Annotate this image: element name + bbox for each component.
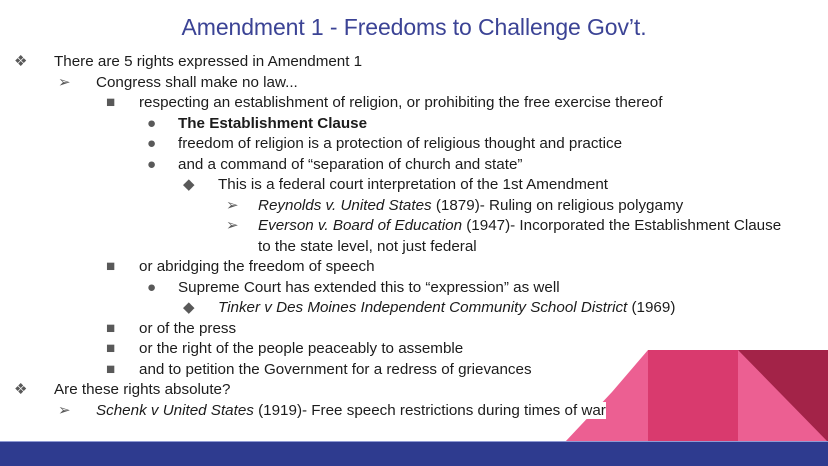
outline-item: ● freedom of religion is a protection of… xyxy=(0,134,828,155)
outline-text-rest: (1919)- Free speech restrictions during … xyxy=(254,402,606,419)
outline-text: Reynolds v. United States (1879)- Ruling… xyxy=(258,196,791,217)
outline-item: ➢ Reynolds v. United States (1879)- Ruli… xyxy=(0,196,828,217)
bullet-dot-icon: ● xyxy=(147,114,156,135)
bullet-big-diamond-icon: ◆ xyxy=(183,298,195,319)
bottom-accent-bar xyxy=(0,442,828,466)
outline-text: or of the press xyxy=(139,319,759,340)
outline-text: Are these rights absolute? xyxy=(54,380,714,401)
outline-item: ❖ Are these rights absolute? xyxy=(0,380,828,401)
outline-item: ◆ Tinker v Des Moines Independent Commun… xyxy=(0,298,828,319)
bullet-square-icon: ■ xyxy=(106,93,115,114)
outline-text: The Establishment Clause xyxy=(178,114,798,135)
bullet-square-icon: ■ xyxy=(106,360,115,381)
outline-text: Supreme Court has extended this to “expr… xyxy=(178,278,798,299)
bullet-arrow-icon: ➢ xyxy=(226,216,239,237)
slide-title: Amendment 1 - Freedoms to Challenge Gov’… xyxy=(0,14,828,41)
slide-body-outline: ❖ There are 5 rights expressed in Amendm… xyxy=(0,52,828,421)
case-citation: Schenk v United States xyxy=(96,402,254,419)
outline-text: respecting an establishment of religion,… xyxy=(139,93,759,114)
outline-text: and a command of “separation of church a… xyxy=(178,155,798,176)
outline-text: and to petition the Government for a red… xyxy=(139,360,759,381)
outline-item: ● Supreme Court has extended this to “ex… xyxy=(0,278,828,299)
outline-item: ■ or the right of the people peaceably t… xyxy=(0,339,828,360)
case-citation: Tinker v Des Moines Independent Communit… xyxy=(218,299,627,316)
outline-text-rest: (1969) xyxy=(627,299,675,316)
bullet-diamond4-icon: ❖ xyxy=(14,52,28,73)
slide-canvas: Amendment 1 - Freedoms to Challenge Gov’… xyxy=(0,0,828,466)
bullet-dot-icon: ● xyxy=(147,134,156,155)
bullet-dot-icon: ● xyxy=(147,278,156,299)
outline-item: ■ or of the press xyxy=(0,319,828,340)
bullet-square-icon: ■ xyxy=(106,319,115,340)
outline-item: ■ or abridging the freedom of speech xyxy=(0,257,828,278)
outline-text: Everson v. Board of Education (1947)- In… xyxy=(258,216,791,257)
outline-text-rest: (1879)- Ruling on religious polygamy xyxy=(432,197,684,214)
outline-item: ■ respecting an establishment of religio… xyxy=(0,93,828,114)
outline-text: There are 5 rights expressed in Amendmen… xyxy=(54,52,714,73)
outline-text: or abridging the freedom of speech xyxy=(139,257,759,278)
bullet-big-diamond-icon: ◆ xyxy=(183,175,195,196)
outline-text: This is a federal court interpretation o… xyxy=(218,175,828,196)
bullet-diamond4-icon: ❖ xyxy=(14,380,28,401)
outline-text: freedom of religion is a protection of r… xyxy=(178,134,798,155)
outline-text: Congress shall make no law... xyxy=(96,73,756,94)
outline-item: ➢ Schenk v United States (1919)- Free sp… xyxy=(0,401,828,422)
bullet-square-icon: ■ xyxy=(106,257,115,278)
outline-item: ● The Establishment Clause xyxy=(0,114,828,135)
bullet-dot-icon: ● xyxy=(147,155,156,176)
bullet-arrow-icon: ➢ xyxy=(226,196,239,217)
outline-item: ● and a command of “separation of church… xyxy=(0,155,828,176)
outline-item: ➢ Everson v. Board of Education (1947)- … xyxy=(0,216,828,257)
outline-item: ◆ This is a federal court interpretation… xyxy=(0,175,828,196)
bullet-arrow-icon: ➢ xyxy=(58,401,71,422)
bullet-arrow-icon: ➢ xyxy=(58,73,71,94)
outline-item: ❖ There are 5 rights expressed in Amendm… xyxy=(0,52,828,73)
case-citation: Everson v. Board of Education xyxy=(258,217,462,234)
highlighted-text: Schenk v United States (1919)- Free spee… xyxy=(96,402,606,419)
bullet-square-icon: ■ xyxy=(106,339,115,360)
outline-text: Schenk v United States (1919)- Free spee… xyxy=(96,401,756,422)
case-citation: Reynolds v. United States xyxy=(258,197,432,214)
outline-text: Tinker v Des Moines Independent Communit… xyxy=(218,298,828,319)
outline-item: ■ and to petition the Government for a r… xyxy=(0,360,828,381)
outline-text: or the right of the people peaceably to … xyxy=(139,339,759,360)
outline-item: ➢ Congress shall make no law... xyxy=(0,73,828,94)
